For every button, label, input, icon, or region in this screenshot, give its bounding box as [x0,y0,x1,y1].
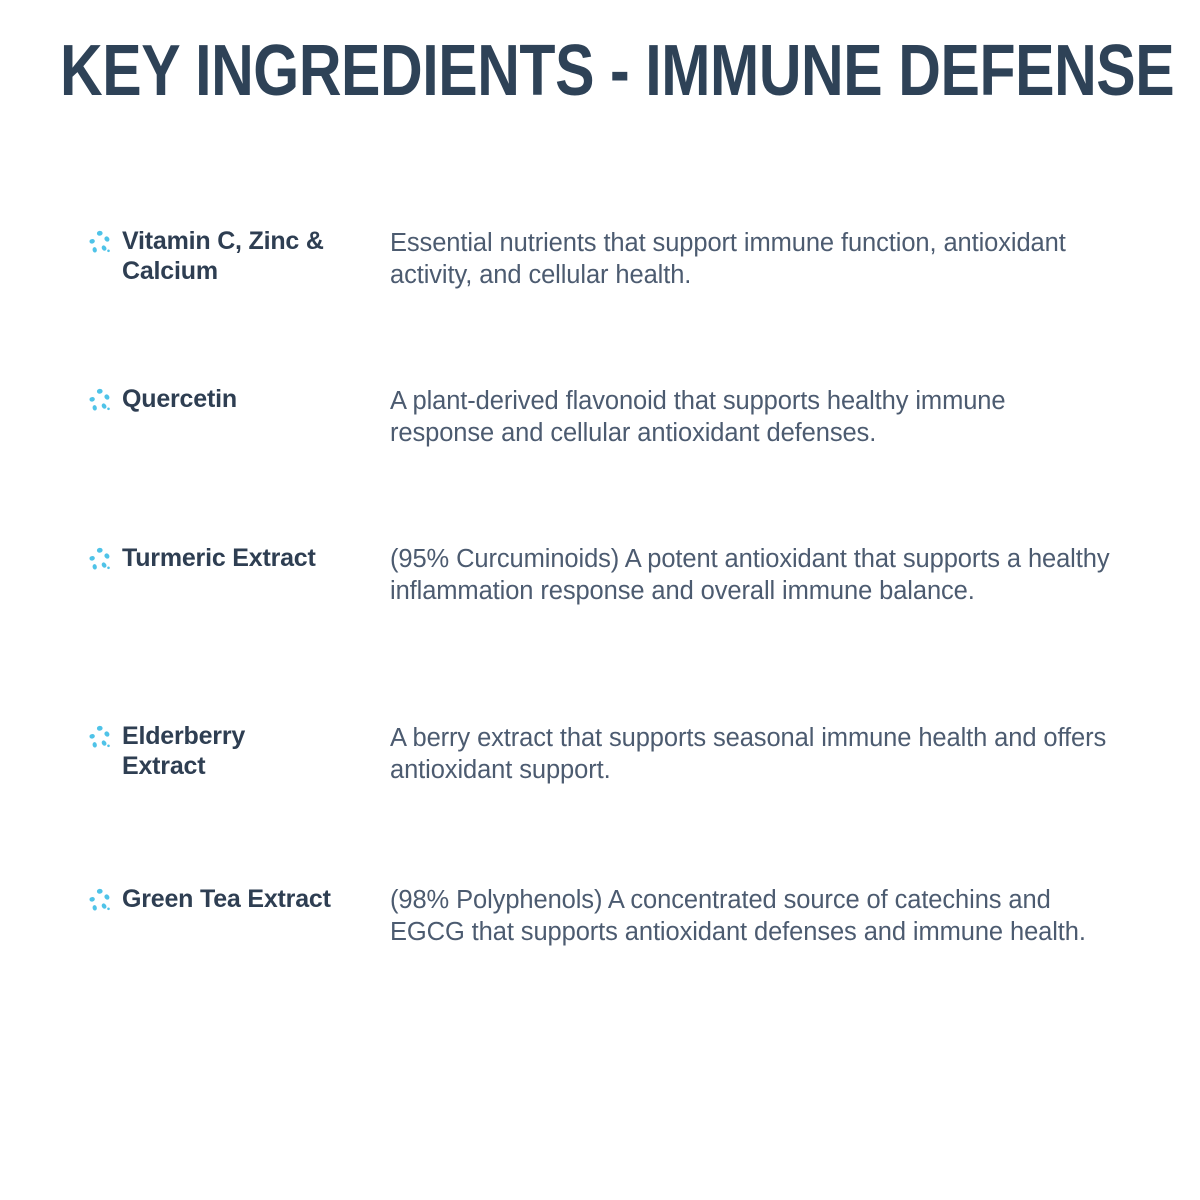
ingredient-name: Elderberry Extract [122,721,332,781]
flower-petal-ring-icon [88,388,111,411]
ingredient-name-group: Elderberry Extract [0,721,390,781]
flower-petal-ring-icon [88,547,111,570]
ingredient-name: Vitamin C, Zinc & Calcium [122,226,332,286]
flower-petal-ring-icon [88,888,111,911]
ingredient-name: Green Tea Extract [122,884,331,914]
ingredients-infographic-page: KEY INGREDIENTS - IMMUNE DEFENSE Vitamin… [0,0,1200,1200]
list-item: Green Tea Extract (98% Polyphenols) A co… [0,884,1200,1044]
ingredient-name-group: Quercetin [0,384,390,414]
ingredient-name-group: Turmeric Extract [0,543,390,573]
ingredient-list: Vitamin C, Zinc & Calcium Essential nutr… [0,226,1200,1044]
ingredient-description: (95% Curcuminoids) A potent antioxidant … [390,543,1200,607]
flower-petal-ring-icon [88,725,111,748]
ingredient-description: Essential nutrients that support immune … [390,227,1200,291]
ingredient-description: (98% Polyphenols) A concentrated source … [390,884,1200,948]
list-item: Vitamin C, Zinc & Calcium Essential nutr… [0,226,1200,384]
ingredient-name: Quercetin [122,384,237,414]
ingredient-name-group: Vitamin C, Zinc & Calcium [0,226,390,286]
ingredient-name: Turmeric Extract [122,543,316,573]
ingredient-description: A plant-derived flavonoid that supports … [390,385,1200,449]
flower-petal-ring-icon [88,230,111,253]
list-item: Turmeric Extract (95% Curcuminoids) A po… [0,543,1200,721]
list-item: Quercetin A plant-derived flavonoid that… [0,384,1200,543]
ingredient-description: A berry extract that supports seasonal i… [390,722,1200,786]
list-item: Elderberry Extract A berry extract that … [0,721,1200,884]
ingredient-name-group: Green Tea Extract [0,884,390,914]
page-title: KEY INGREDIENTS - IMMUNE DEFENSE [60,34,1174,108]
